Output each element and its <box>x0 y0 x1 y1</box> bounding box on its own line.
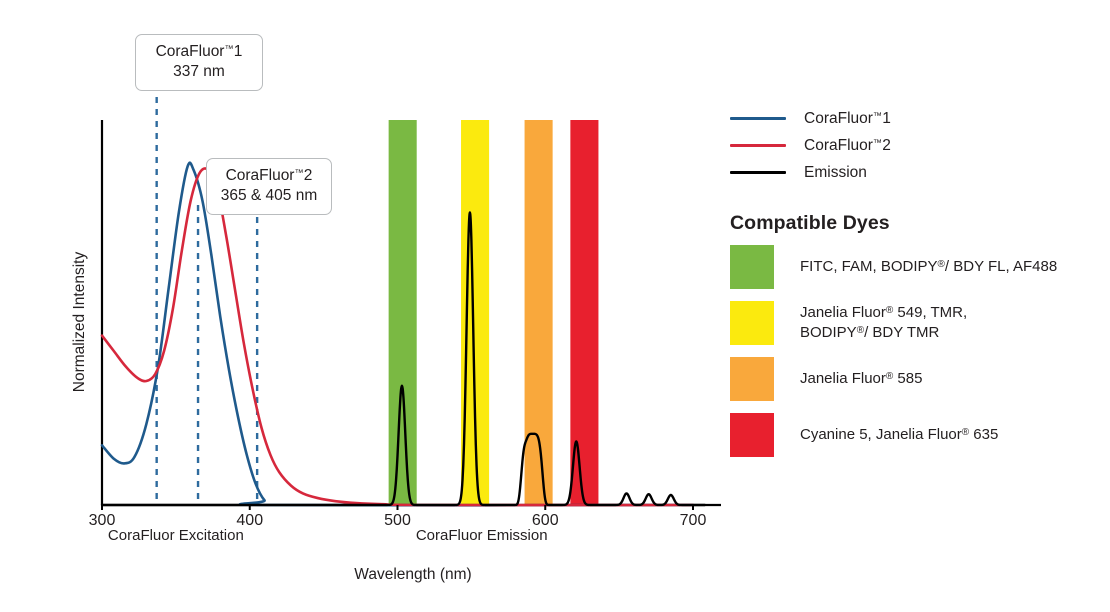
region-label-emission: CoraFluor Emission <box>416 527 548 544</box>
fluorescence-spectra-figure: CoraFluor™1 337 nm CoraFluor™2 365 & 405… <box>0 0 1110 612</box>
legend-series-row: CoraFluor™1 <box>730 105 1110 132</box>
callout-cf2-line2: 365 & 405 nm <box>219 186 319 206</box>
dye-text: BODIPY <box>800 324 857 341</box>
chart-plot-area: CoraFluor™1 337 nm CoraFluor™2 365 & 405… <box>0 0 730 612</box>
dye-text: Cyanine 5, Janelia Fluor <box>800 426 962 443</box>
series-legend: CoraFluor™1CoraFluor™2Emission <box>730 105 1110 186</box>
green-band <box>389 120 417 505</box>
dye-label: Janelia Fluor® 549, TMR,BODIPY®/ BDY TMR <box>800 303 967 343</box>
dye-label: Cyanine 5, Janelia Fluor® 635 <box>800 425 998 445</box>
legend-series-label: Emission <box>804 164 867 182</box>
legend-series-label: CoraFluor™2 <box>804 137 891 155</box>
dye-label: Janelia Fluor® 585 <box>800 369 922 389</box>
dye-text: / BDY FL, AF488 <box>945 258 1057 275</box>
dye-color-swatch <box>730 245 774 289</box>
dye-legend-row: Janelia Fluor® 585 <box>730 353 1110 405</box>
dye-legend-row: Janelia Fluor® 549, TMR,BODIPY®/ BDY TMR <box>730 297 1110 349</box>
orange-band <box>525 120 553 505</box>
trademark-symbol: ™ <box>224 44 233 54</box>
legend-line-swatch <box>730 171 786 174</box>
legend-series-name: Emission <box>804 164 867 181</box>
dye-label-line-1: Cyanine 5, Janelia Fluor® 635 <box>800 425 998 445</box>
legend-series-label: CoraFluor™1 <box>804 110 891 128</box>
dye-text: FITC, FAM, BODIPY <box>800 258 938 275</box>
callout-corafluor-2: CoraFluor™2 365 & 405 nm <box>206 158 332 215</box>
legend-series-name: CoraFluor <box>804 137 873 154</box>
legend-series-index: 2 <box>882 137 891 154</box>
x-axis-title: Wavelength (nm) <box>354 566 471 584</box>
legend-line-swatch <box>730 117 786 120</box>
legend-series-name: CoraFluor <box>804 110 873 127</box>
registered-symbol: ® <box>857 325 864 336</box>
dye-legend-row: Cyanine 5, Janelia Fluor® 635 <box>730 409 1110 461</box>
legend-series-index: 1 <box>882 110 891 127</box>
callout-cf1-line1: CoraFluor™1 <box>148 42 250 62</box>
chart-legend: CoraFluor™1CoraFluor™2Emission Compatibl… <box>730 105 1110 461</box>
dye-label: FITC, FAM, BODIPY®/ BDY FL, AF488 <box>800 257 1057 277</box>
trademark-symbol: ™ <box>294 168 303 178</box>
trademark-symbol: ™ <box>873 137 882 147</box>
legend-series-row: CoraFluor™2 <box>730 132 1110 159</box>
dye-label-line-1: FITC, FAM, BODIPY®/ BDY FL, AF488 <box>800 257 1057 277</box>
dye-text: / BDY TMR <box>864 324 939 341</box>
dye-color-swatch <box>730 357 774 401</box>
dye-color-swatch <box>730 413 774 457</box>
callout-cf1-line2: 337 nm <box>148 62 250 82</box>
compatible-dyes-heading: Compatible Dyes <box>730 212 1110 235</box>
trademark-symbol: ™ <box>873 110 882 120</box>
dye-text: 635 <box>969 426 998 443</box>
dye-color-swatch <box>730 301 774 345</box>
registered-symbol: ® <box>938 259 945 270</box>
dye-text: 549, TMR, <box>893 304 967 321</box>
region-label-excitation: CoraFluor Excitation <box>108 527 244 544</box>
dye-label-line-1: Janelia Fluor® 585 <box>800 369 922 389</box>
callout-cf2-line1: CoraFluor™2 <box>219 166 319 186</box>
dye-label-line-1: Janelia Fluor® 549, TMR, <box>800 303 967 323</box>
legend-series-row: Emission <box>730 159 1110 186</box>
dye-text: Janelia Fluor <box>800 370 886 387</box>
legend-line-swatch <box>730 144 786 147</box>
dye-label-line-2: BODIPY®/ BDY TMR <box>800 323 967 343</box>
x-tick-label-700: 700 <box>680 512 707 530</box>
dye-legend-row: FITC, FAM, BODIPY®/ BDY FL, AF488 <box>730 241 1110 293</box>
dye-text: Janelia Fluor <box>800 304 886 321</box>
x-tick-label-500: 500 <box>384 512 411 530</box>
dye-text: 585 <box>893 370 922 387</box>
compatible-dyes-list: FITC, FAM, BODIPY®/ BDY FL, AF488Janelia… <box>730 241 1110 461</box>
y-axis-title: Normalized Intensity <box>71 222 89 422</box>
callout-corafluor-1: CoraFluor™1 337 nm <box>135 34 263 91</box>
